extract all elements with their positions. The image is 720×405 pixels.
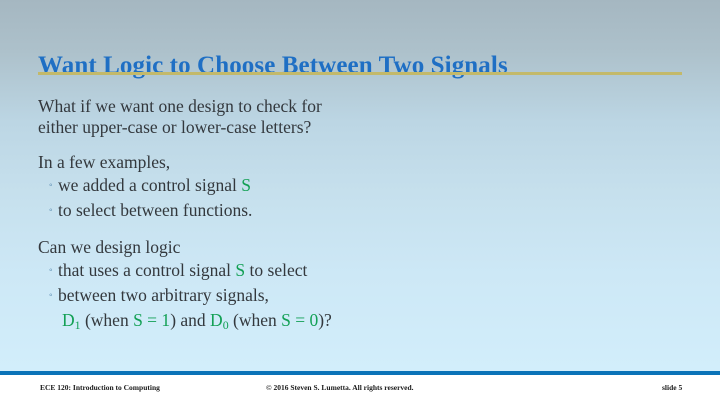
when-text-2: (when xyxy=(229,310,281,330)
footer-slide-number: slide 5 xyxy=(662,383,682,392)
presentation-slide: Want Logic to Choose Between Two Signals… xyxy=(0,0,720,405)
condition-s-equals-0: S = 0 xyxy=(281,310,318,330)
signal-label-d0: D xyxy=(210,310,223,330)
close-text-1: ) and xyxy=(170,310,210,330)
bullet-text: we added a control signal xyxy=(58,175,241,195)
bullet-text: to select between functions. xyxy=(58,200,252,220)
title-underline-rule xyxy=(38,72,682,75)
group-one-heading: In a few examples, xyxy=(38,152,678,173)
slide-footer: ECE 120: Introduction to Computing © 201… xyxy=(0,375,720,405)
footer-copyright-label: © 2016 Steven S. Lumetta. All rights res… xyxy=(266,383,414,392)
close-text-2: )? xyxy=(318,310,332,330)
bullet-text-tail: to select xyxy=(245,260,307,280)
signal-label-d1: D xyxy=(62,310,75,330)
slide-body: What if we want one design to check for … xyxy=(38,96,678,338)
lead-line-2: either upper-case or lower-case letters? xyxy=(38,117,678,138)
bullet-text: between two arbitrary signals, xyxy=(58,285,269,305)
bullet-item-between-two-arbitrary-signals: ◦ between two arbitrary signals, xyxy=(38,283,678,308)
bullet-item-we-added-control-signal: ◦ we added a control signal S xyxy=(38,173,678,198)
signal-label-s: S xyxy=(241,175,251,195)
bullet-text: that uses a control signal xyxy=(58,260,235,280)
bullet-circle-icon: ◦ xyxy=(49,198,53,223)
bullet-circle-icon: ◦ xyxy=(49,258,53,283)
bullet-item-to-select-between-functions: ◦ to select between functions. xyxy=(38,198,678,223)
spacer xyxy=(38,223,678,237)
group-two-heading: Can we design logic xyxy=(38,237,678,258)
continuation-line-data-signals: D1 (when S = 1) and D0 (when S = 0)? xyxy=(38,308,678,338)
when-text-1: (when xyxy=(81,310,133,330)
footer-course-label: ECE 120: Introduction to Computing xyxy=(40,383,160,392)
slide-title: Want Logic to Choose Between Two Signals xyxy=(38,51,688,81)
condition-s-equals-1: S = 1 xyxy=(133,310,170,330)
lead-paragraph: What if we want one design to check for … xyxy=(38,96,678,138)
bullet-item-that-uses-control-signal: ◦ that uses a control signal S to select xyxy=(38,258,678,283)
spacer xyxy=(38,144,678,152)
signal-label-s: S xyxy=(235,260,245,280)
lead-line-1: What if we want one design to check for xyxy=(38,96,678,117)
bullet-circle-icon: ◦ xyxy=(49,283,53,308)
bullet-circle-icon: ◦ xyxy=(49,173,53,198)
